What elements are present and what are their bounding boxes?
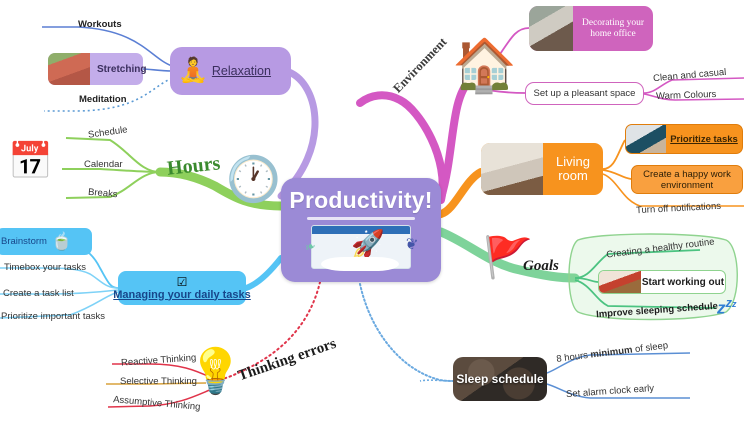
title-underline: [307, 217, 415, 220]
node-sleep-schedule[interactable]: Sleep schedule: [453, 357, 547, 401]
smoke-cloud-shape: [321, 257, 399, 271]
node-label: Decorating your home office: [573, 18, 653, 40]
label-meditation[interactable]: Meditation: [79, 94, 127, 105]
running-track-photo: [48, 53, 90, 85]
central-node[interactable]: Productivity! ❧ ❦ 🚀: [281, 178, 441, 282]
workout-photo: [599, 271, 641, 293]
label-turn-off-notifications[interactable]: Turn off notifications: [636, 201, 721, 216]
label-breaks[interactable]: Breaks: [88, 187, 118, 201]
node-label: Stretching: [97, 64, 146, 75]
label-prioritize-important-tasks[interactable]: Prioritize important tasks: [1, 311, 105, 322]
rocket-icon: 🚀: [351, 231, 385, 258]
living-room-photo: [481, 143, 543, 195]
label-assumptive-thinking[interactable]: Assumptive Thinking: [113, 394, 201, 413]
page-title: Productivity!: [289, 187, 432, 214]
label-environment[interactable]: Environment: [390, 35, 450, 96]
label-goals[interactable]: Goals: [523, 258, 559, 275]
meditation-icon: 🧘: [178, 59, 208, 83]
label-creating-healthy-routine[interactable]: Creating a healthy routine: [606, 236, 715, 260]
label-hours[interactable]: Hours: [166, 152, 221, 180]
node-decorating-home-office[interactable]: Decorating your home office: [529, 6, 653, 51]
calendar-icon: 📅: [8, 143, 53, 179]
node-relaxation[interactable]: 🧘 Relaxation: [172, 49, 289, 93]
label-set-alarm-clock-early[interactable]: Set alarm clock early: [566, 383, 655, 400]
label-part-emphasis: minimum: [590, 345, 633, 361]
label-improve-sleeping-schedule[interactable]: Improve sleeping schedule: [596, 301, 718, 320]
node-label: Start working out: [641, 277, 725, 288]
leaf-icon-right: ❦: [403, 234, 420, 255]
label-part-prefix: 8 hours: [556, 350, 591, 365]
notebook-photo: [626, 125, 666, 153]
node-label: Living room: [543, 155, 603, 183]
label-workouts[interactable]: Workouts: [78, 19, 122, 30]
node-create-happy-work-environment[interactable]: Create a happy work environment: [631, 165, 743, 194]
zzz-icon: zzz: [717, 296, 737, 317]
label-thinking-errors[interactable]: Thinking errors: [236, 336, 339, 385]
node-living-room[interactable]: Living room: [481, 143, 603, 195]
label-clean-and-casual[interactable]: Clean and casual: [653, 67, 727, 84]
label-schedule[interactable]: Schedule: [87, 124, 128, 140]
label-timebox-your-tasks[interactable]: Timebox your tasks: [4, 262, 86, 273]
node-managing-daily-tasks[interactable]: ☑ Managing your daily tasks: [118, 271, 246, 305]
label-selective-thinking[interactable]: Selective Thinking: [120, 376, 197, 387]
rocket-illustration: ❧ ❦ 🚀: [281, 223, 441, 271]
label-create-a-task-list[interactable]: Create a task list: [3, 288, 74, 299]
node-brainstorm[interactable]: Brainstorm 🍵: [0, 228, 92, 255]
teacup-icon: 🍵: [51, 232, 72, 252]
home-office-photo: [529, 6, 573, 51]
node-stretching[interactable]: Stretching: [48, 53, 143, 85]
label-calendar[interactable]: Calendar: [84, 159, 123, 170]
node-prioritize-tasks[interactable]: Prioritize tasks: [625, 124, 743, 154]
mindmap-canvas: Productivity! ❧ ❦ 🚀 🧘 Relaxation Workout…: [0, 0, 744, 435]
node-label: Create a happy work environment: [632, 169, 742, 191]
label-reactive-thinking[interactable]: Reactive Thinking: [121, 352, 197, 368]
label-part-suffix: of sleep: [632, 340, 669, 355]
node-set-up-pleasant-space[interactable]: Set up a pleasant space: [525, 82, 644, 105]
label-eight-hours-minimum-sleep[interactable]: 8 hours minimum of sleep: [556, 340, 669, 365]
node-label: Managing your daily tasks: [113, 289, 251, 301]
clock-icon: 🕐: [226, 158, 281, 202]
node-label: Relaxation: [212, 64, 271, 78]
node-label: Brainstorm: [1, 236, 47, 247]
house-icon: 🏠: [452, 40, 517, 92]
check-box-icon: ☑: [177, 276, 188, 288]
node-start-working-out[interactable]: Start working out: [598, 270, 726, 294]
label-warm-colours[interactable]: Warm Colours: [656, 89, 717, 102]
node-label: Sleep schedule: [456, 373, 543, 386]
node-label: Prioritize tasks: [666, 134, 742, 145]
node-label: Set up a pleasant space: [534, 88, 636, 99]
